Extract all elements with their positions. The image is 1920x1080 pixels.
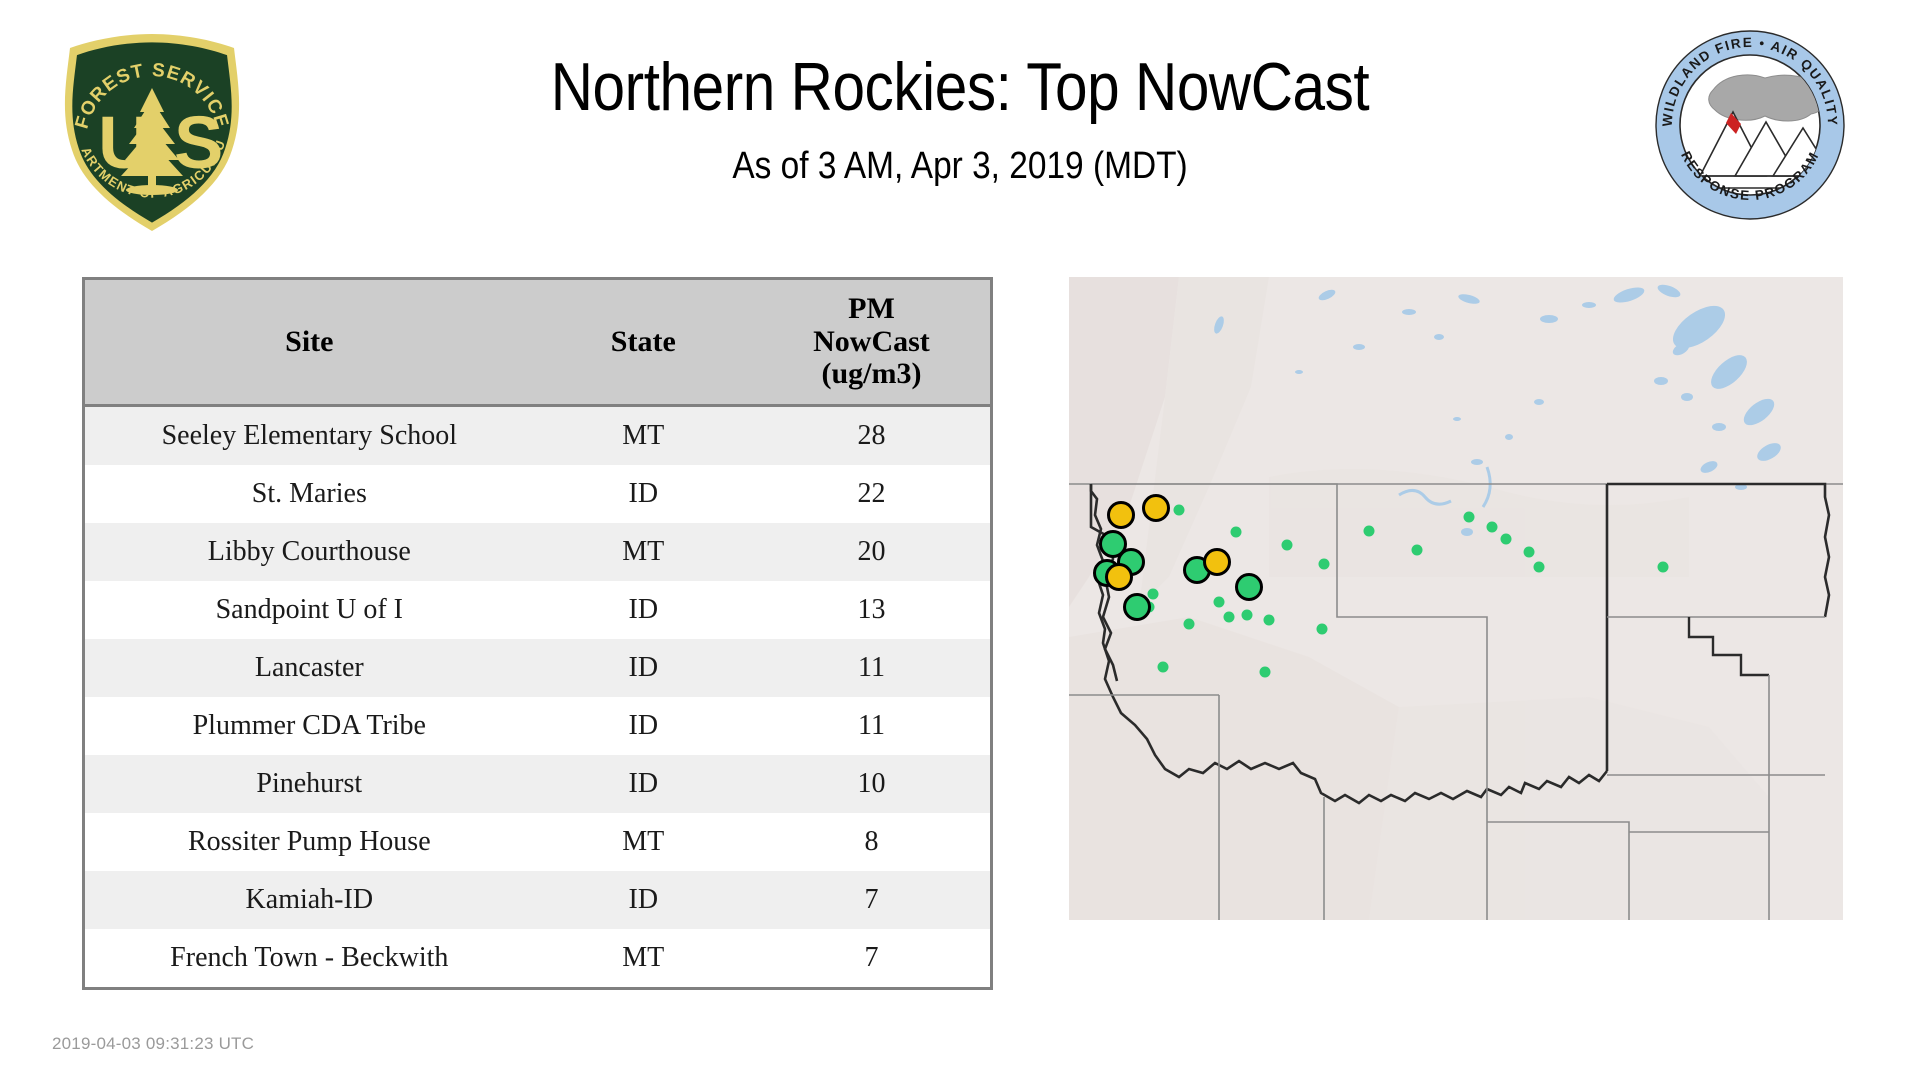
title-block: Northern Rockies: Top NowCast As of 3 AM… [280,52,1640,188]
pm-header-line-1: PM [848,292,895,325]
map-marker-small[interactable] [1317,624,1328,635]
map-marker-small[interactable] [1264,615,1275,626]
map-marker-site[interactable] [1107,565,1132,590]
column-header-state: State [534,280,753,406]
map-marker-small[interactable] [1224,612,1235,623]
cell-state: MT [534,523,753,581]
table-row: Kamiah-IDID7 [85,871,990,929]
top-nowcast-table: Site State PM NowCast (ug/m3) Seeley Ele… [85,280,990,987]
cell-state: ID [534,755,753,813]
table-row: St. MariesID22 [85,465,990,523]
map-marker-small[interactable] [1214,597,1225,608]
cell-site: Lancaster [85,639,534,697]
pm-header-line-2: NowCast [813,325,930,358]
map-marker-small[interactable] [1282,540,1293,551]
cell-site: Sandpoint U of I [85,581,534,639]
map-marker-site[interactable] [1237,575,1262,600]
table-row: Rossiter Pump HouseMT8 [85,813,990,871]
map-marker-small[interactable] [1534,562,1545,573]
cell-pm-nowcast: 8 [753,813,990,871]
table-row: Seeley Elementary SchoolMT28 [85,406,990,466]
cell-site: St. Maries [85,465,534,523]
cell-site: Kamiah-ID [85,871,534,929]
cell-state: ID [534,639,753,697]
cell-pm-nowcast: 7 [753,929,990,987]
usfs-shield-logo: FOREST SERVICE U S DEPARTMENT OF AGRICUL… [52,30,252,235]
table-row: Sandpoint U of IID13 [85,581,990,639]
table-row: French Town - BeckwithMT7 [85,929,990,987]
map-marker-small[interactable] [1464,512,1475,523]
page-title: Northern Rockies: Top NowCast [375,52,1545,123]
wildland-fire-air-quality-response-program-logo: WILDLAND FIRE • AIR QUALITY RESPONSE PRO… [1653,28,1847,222]
northern-rockies-monitor-map[interactable] [1069,277,1843,920]
cell-site: Rossiter Pump House [85,813,534,871]
cell-site: Plummer CDA Tribe [85,697,534,755]
cell-site: Seeley Elementary School [85,406,534,466]
map-marker-site[interactable] [1144,496,1169,521]
map-marker-small[interactable] [1242,610,1253,621]
cell-pm-nowcast: 11 [753,639,990,697]
map-marker-small[interactable] [1148,589,1159,600]
map-marker-small[interactable] [1524,547,1535,558]
map-marker-small[interactable] [1364,526,1375,537]
generation-timestamp: 2019-04-03 09:31:23 UTC [52,1034,254,1054]
map-marker-site[interactable] [1125,595,1150,620]
table-row: PinehurstID10 [85,755,990,813]
map-marker-small[interactable] [1501,534,1512,545]
cell-pm-nowcast: 20 [753,523,990,581]
map-marker-small[interactable] [1260,667,1271,678]
map-marker-small[interactable] [1319,559,1330,570]
column-header-site: Site [85,280,534,406]
page-header: FOREST SERVICE U S DEPARTMENT OF AGRICUL… [0,0,1920,262]
cell-site: Pinehurst [85,755,534,813]
map-marker-small[interactable] [1184,619,1195,630]
table-row: Plummer CDA TribeID11 [85,697,990,755]
cell-pm-nowcast: 28 [753,406,990,466]
cell-state: ID [534,871,753,929]
map-marker-small[interactable] [1487,522,1498,533]
map-marker-small[interactable] [1174,505,1185,516]
table-header: Site State PM NowCast (ug/m3) [85,280,990,406]
table-body: Seeley Elementary SchoolMT28St. MariesID… [85,406,990,988]
cell-pm-nowcast: 13 [753,581,990,639]
cell-pm-nowcast: 11 [753,697,990,755]
page-subtitle: As of 3 AM, Apr 3, 2019 (MDT) [362,145,1559,188]
top-nowcast-table-container: Site State PM NowCast (ug/m3) Seeley Ele… [82,277,993,990]
cell-state: MT [534,813,753,871]
cell-state: MT [534,929,753,987]
cell-state: ID [534,697,753,755]
map-marker-site[interactable] [1109,503,1134,528]
cell-pm-nowcast: 10 [753,755,990,813]
cell-state: MT [534,406,753,466]
map-marker-small[interactable] [1231,527,1242,538]
cell-site: Libby Courthouse [85,523,534,581]
cell-pm-nowcast: 22 [753,465,990,523]
map-marker-small[interactable] [1658,562,1669,573]
table-row: LancasterID11 [85,639,990,697]
map-marker-small[interactable] [1158,662,1169,673]
map-marker-site[interactable] [1205,550,1230,575]
cell-state: ID [534,581,753,639]
table-header-row: Site State PM NowCast (ug/m3) [85,280,990,406]
map-marker-small[interactable] [1412,545,1423,556]
pm-header-line-3: (ug/m3) [821,357,921,390]
cell-pm-nowcast: 7 [753,871,990,929]
cell-state: ID [534,465,753,523]
cell-site: French Town - Beckwith [85,929,534,987]
table-row: Libby CourthouseMT20 [85,523,990,581]
column-header-pm-nowcast: PM NowCast (ug/m3) [753,280,990,406]
